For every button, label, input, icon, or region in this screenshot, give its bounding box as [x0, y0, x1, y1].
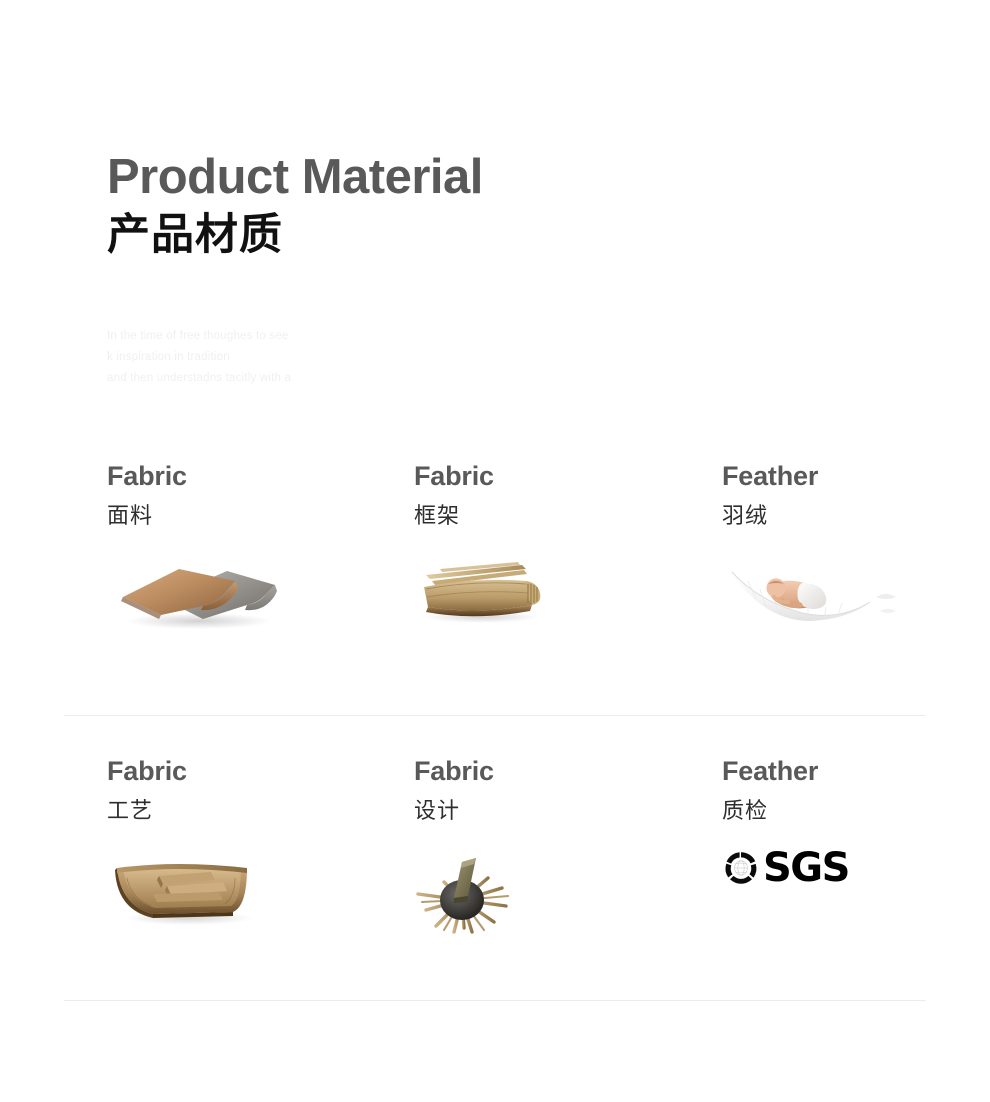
cell-title-english: Feather — [722, 757, 924, 787]
page-header: Product Material 产品材质 — [107, 152, 707, 261]
product-material-page: Product Material 产品材质 In the time of fre… — [0, 0, 990, 1102]
cell-title-english: Feather — [722, 462, 924, 492]
cell-title-chinese: 羽绒 — [722, 503, 924, 529]
material-row: Fabric 面料 — [0, 462, 990, 715]
material-cell-fabric-gongyi[interactable]: Fabric 工艺 — [0, 757, 308, 1010]
cell-title-chinese: 面料 — [107, 503, 308, 529]
subtitle-line-1: In the time of free thoughes to see — [107, 326, 437, 347]
carved-wood-image — [107, 842, 287, 932]
feather-baby-image — [722, 547, 902, 637]
sgs-wordmark: SGS — [763, 848, 849, 888]
page-title-chinese: 产品材质 — [107, 211, 707, 260]
subtitle-line-3: and then understadns tacitly with a — [107, 368, 437, 389]
cell-title-chinese: 框架 — [414, 503, 616, 529]
subtitle-ghost-text: In the time of free thoughes to see k in… — [107, 326, 437, 389]
material-cell-fabric-sheji[interactable]: Fabric 设计 — [308, 757, 616, 1010]
sgs-logo-lockup: SGS — [722, 848, 902, 888]
material-cell-feather-yurong[interactable]: Feather 羽绒 — [616, 462, 924, 715]
subtitle-line-2: k inspiration in tradition — [107, 347, 437, 368]
sgs-circle-mark — [722, 849, 760, 887]
material-cell-feather-zhijian[interactable]: Feather 质检 — [616, 757, 924, 1010]
material-cell-fabric-mianliao[interactable]: Fabric 面料 — [0, 462, 308, 715]
wood-starburst-image — [414, 842, 594, 932]
cell-title-english: Fabric — [414, 757, 616, 787]
cell-title-chinese: 设计 — [414, 798, 616, 824]
page-title-english: Product Material — [107, 152, 707, 203]
cell-title-english: Fabric — [107, 462, 308, 492]
cell-title-english: Fabric — [107, 757, 308, 787]
material-row: Fabric 工艺 — [0, 757, 990, 1010]
cell-title-chinese: 工艺 — [107, 798, 308, 824]
cell-title-chinese: 质检 — [722, 798, 924, 824]
sgs-logo: SGS — [722, 848, 902, 938]
wood-bundle-image — [414, 547, 594, 637]
fabric-swatches-image — [107, 547, 287, 637]
material-cell-fabric-kuangjia[interactable]: Fabric 框架 — [308, 462, 616, 715]
material-grid: Fabric 面料 — [0, 462, 990, 1010]
cell-title-english: Fabric — [414, 462, 616, 492]
